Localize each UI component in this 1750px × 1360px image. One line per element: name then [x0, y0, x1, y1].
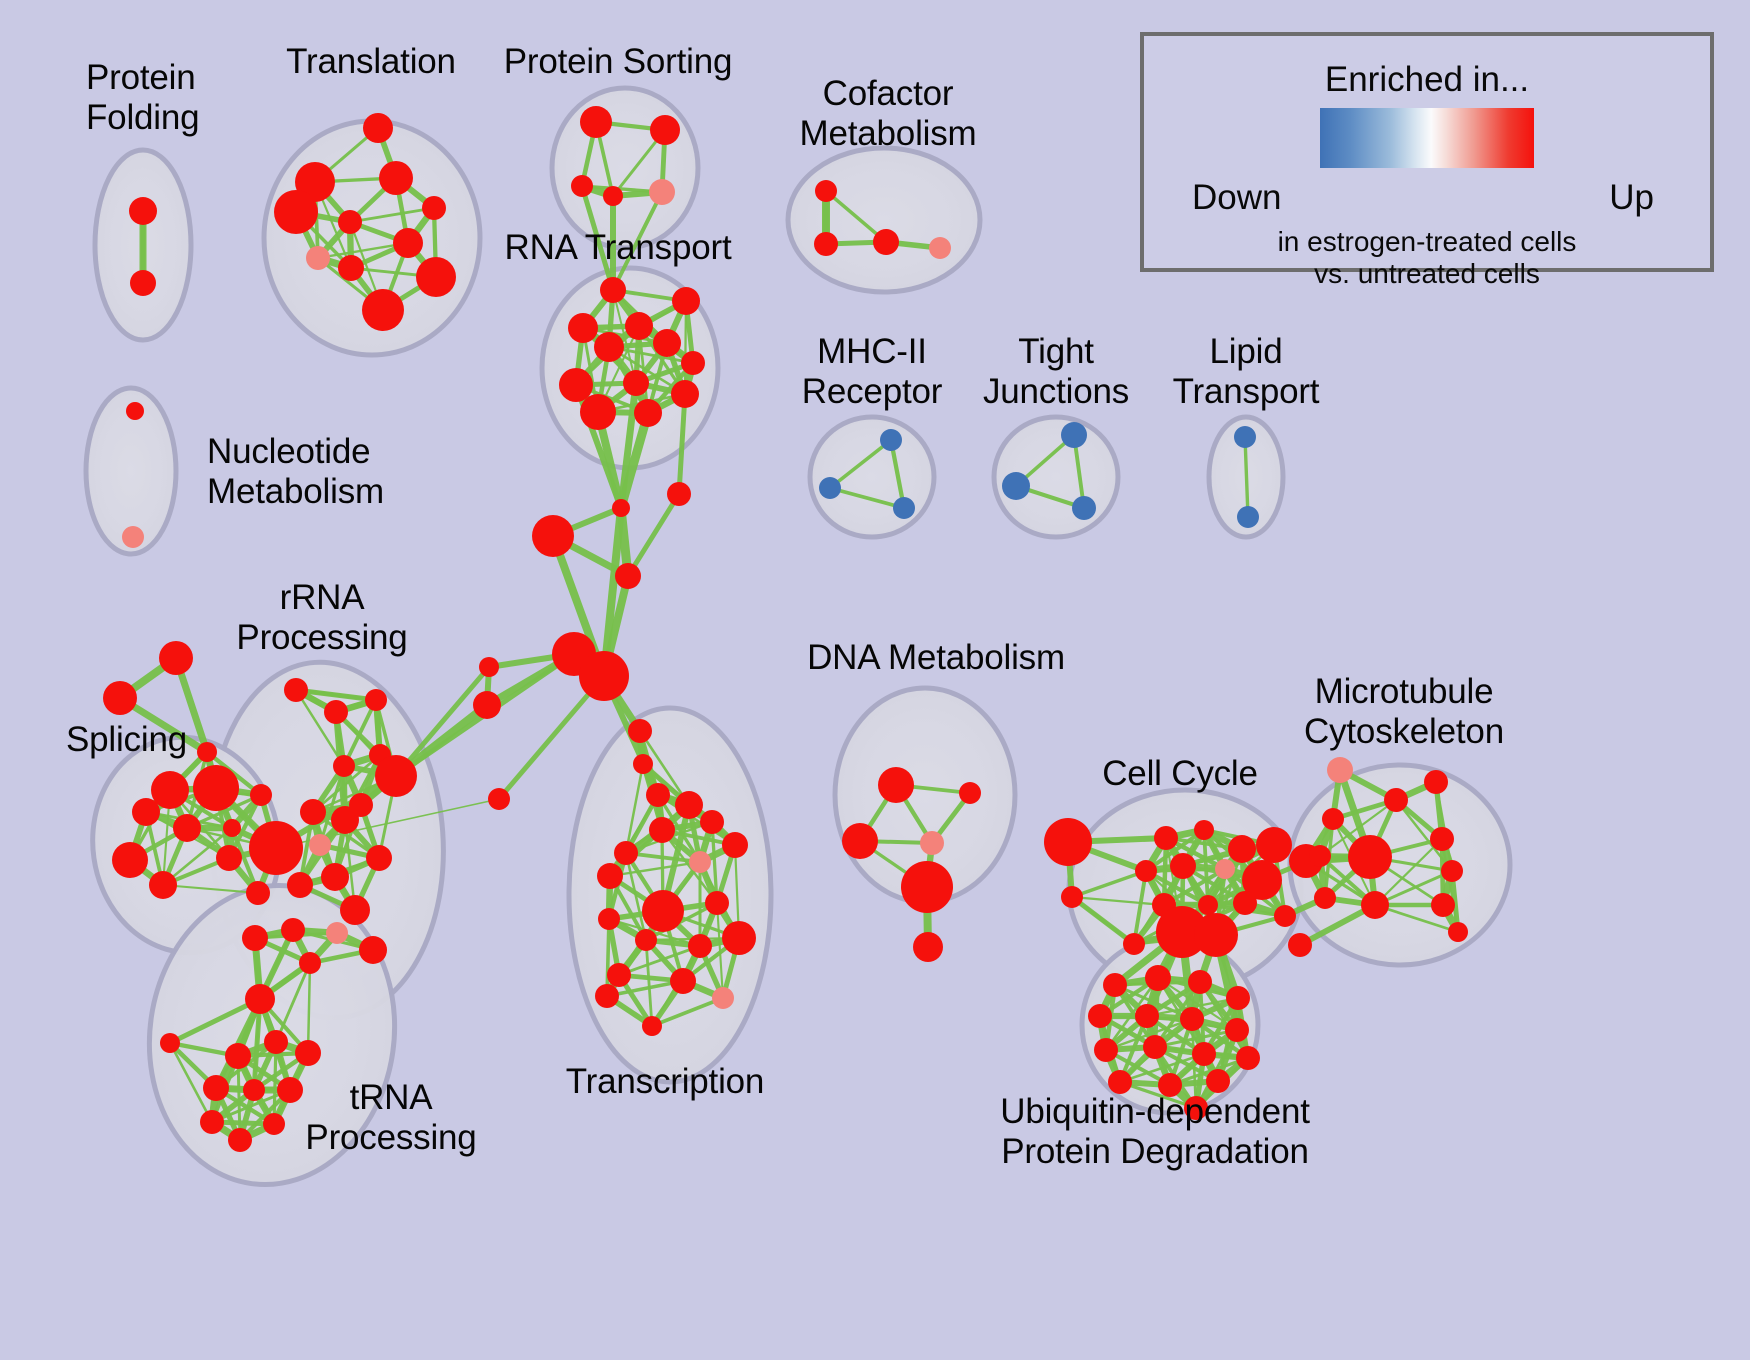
gene-set-node[interactable]	[1226, 986, 1250, 1010]
gene-set-node[interactable]	[633, 754, 653, 774]
gene-set-node[interactable]	[422, 196, 446, 220]
cluster-label-lipid-transport: Lipid Transport	[1173, 332, 1320, 411]
gene-set-node[interactable]	[1441, 860, 1463, 882]
gene-set-node[interactable]	[245, 984, 275, 1014]
gene-set-node[interactable]	[607, 963, 631, 987]
gene-set-node[interactable]	[103, 681, 137, 715]
gene-set-node[interactable]	[614, 841, 638, 865]
gene-set-node[interactable]	[1430, 827, 1454, 851]
gene-set-node[interactable]	[216, 845, 242, 871]
legend-up-label: Up	[1609, 178, 1654, 218]
gene-set-node[interactable]	[321, 863, 349, 891]
gene-set-node[interactable]	[228, 1128, 252, 1152]
legend-title: Enriched in...	[1144, 60, 1710, 100]
gene-set-node[interactable]	[488, 788, 510, 810]
gene-set-node[interactable]	[705, 891, 729, 915]
gene-set-node[interactable]	[901, 861, 953, 913]
gene-set-node[interactable]	[1061, 422, 1087, 448]
gene-set-node[interactable]	[1384, 788, 1408, 812]
gene-set-node[interactable]	[197, 742, 217, 762]
gene-set-node[interactable]	[1206, 1069, 1230, 1093]
gene-set-node[interactable]	[712, 987, 734, 1009]
gene-set-node[interactable]	[149, 871, 177, 899]
gene-set-node[interactable]	[363, 113, 393, 143]
gene-set-node[interactable]	[814, 232, 838, 256]
gene-set-node[interactable]	[595, 984, 619, 1008]
gene-set-node[interactable]	[597, 863, 623, 889]
cluster-label-mhc-ii-receptor: MHC-II Receptor	[802, 332, 942, 411]
cluster-label-tight-junctions: Tight Junctions	[983, 332, 1129, 411]
gene-set-node[interactable]	[689, 851, 711, 873]
gene-set-node[interactable]	[1180, 1007, 1204, 1031]
gene-set-node[interactable]	[1188, 970, 1212, 994]
gene-set-node[interactable]	[362, 289, 404, 331]
cluster-label-protein-sorting: Protein Sorting	[504, 42, 733, 82]
cluster-label-cofactor-metabolism: Cofactor Metabolism	[800, 74, 977, 153]
gene-set-node[interactable]	[333, 755, 355, 777]
gene-set-node[interactable]	[642, 890, 684, 932]
gene-set-node[interactable]	[1103, 973, 1127, 997]
gene-set-node[interactable]	[1094, 1038, 1118, 1062]
gene-set-node[interactable]	[479, 657, 499, 677]
gene-set-node[interactable]	[173, 814, 201, 842]
gene-set-node[interactable]	[670, 968, 696, 994]
gene-set-node[interactable]	[681, 351, 705, 375]
gene-set-node[interactable]	[603, 186, 623, 206]
gene-set-node[interactable]	[300, 799, 326, 825]
gene-set-node[interactable]	[623, 370, 649, 396]
cluster-label-cell-cycle: Cell Cycle	[1102, 754, 1258, 794]
gene-set-node[interactable]	[1145, 965, 1171, 991]
gene-set-node[interactable]	[225, 1043, 251, 1069]
cluster-label-microtubule-cytoskeleton: Microtubule Cytoskeleton	[1304, 672, 1504, 751]
edge	[628, 494, 679, 576]
cluster-label-rrna-processing: rRNA Processing	[236, 578, 407, 657]
gene-set-node[interactable]	[366, 845, 392, 871]
gene-set-node[interactable]	[615, 563, 641, 589]
gene-set-node[interactable]	[625, 312, 653, 340]
gene-set-node[interactable]	[1431, 893, 1455, 917]
gene-set-node[interactable]	[1088, 1004, 1112, 1028]
gene-set-node[interactable]	[880, 429, 902, 451]
gene-set-node[interactable]	[129, 197, 157, 225]
gene-set-node[interactable]	[642, 1016, 662, 1036]
legend-down-label: Down	[1192, 178, 1281, 218]
gene-set-node[interactable]	[1170, 853, 1196, 879]
gene-set-node[interactable]	[1002, 472, 1030, 500]
gene-set-node[interactable]	[913, 932, 943, 962]
gene-set-node[interactable]	[1194, 820, 1214, 840]
cluster-label-dna-metabolism: DNA Metabolism	[807, 638, 1065, 678]
gene-set-node[interactable]	[579, 651, 629, 701]
cluster-label-rna-transport: RNA Transport	[505, 228, 732, 268]
gene-set-node[interactable]	[1234, 426, 1256, 448]
gene-set-node[interactable]	[126, 402, 144, 420]
gene-set-node[interactable]	[473, 691, 501, 719]
gene-set-node[interactable]	[1044, 818, 1092, 866]
gene-set-node[interactable]	[667, 482, 691, 506]
gene-set-node[interactable]	[1108, 1070, 1132, 1094]
gene-set-node[interactable]	[878, 767, 914, 803]
gene-set-node[interactable]	[242, 925, 268, 951]
gene-set-node[interactable]	[112, 842, 148, 878]
legend-subtitle-line-2: vs. untreated cells	[1144, 258, 1710, 290]
gene-set-node[interactable]	[1061, 886, 1083, 908]
gene-set-node[interactable]	[1192, 1042, 1216, 1066]
gene-set-node[interactable]	[842, 823, 878, 859]
gene-set-node[interactable]	[249, 821, 303, 875]
gene-set-node[interactable]	[1424, 770, 1448, 794]
gene-set-node[interactable]	[671, 380, 699, 408]
gene-set-node[interactable]	[250, 784, 272, 806]
gene-set-node[interactable]	[1256, 827, 1292, 863]
gene-set-node[interactable]	[306, 246, 330, 270]
gene-set-node[interactable]	[379, 161, 413, 195]
gene-set-node[interactable]	[200, 1110, 224, 1134]
gene-set-node[interactable]	[338, 255, 364, 281]
gene-set-node[interactable]	[375, 755, 417, 797]
gene-set-node[interactable]	[873, 229, 899, 255]
gene-set-node[interactable]	[284, 678, 308, 702]
gene-set-node[interactable]	[893, 497, 915, 519]
gene-set-node[interactable]	[1274, 905, 1296, 927]
gene-set-node[interactable]	[159, 641, 193, 675]
cluster-hull-cofactor-metabolism	[788, 148, 980, 292]
gene-set-node[interactable]	[815, 180, 837, 202]
cluster-label-nucleotide-metabolism: Nucleotide Metabolism	[207, 432, 384, 511]
gene-set-node[interactable]	[920, 831, 944, 855]
gene-set-node[interactable]	[580, 106, 612, 138]
gene-set-node[interactable]	[635, 929, 657, 951]
gene-set-node[interactable]	[365, 689, 387, 711]
gene-set-node[interactable]	[324, 700, 348, 724]
gene-set-node[interactable]	[1448, 922, 1468, 942]
gene-set-node[interactable]	[203, 1075, 229, 1101]
cluster-hull-protein-sorting	[552, 88, 698, 248]
gene-set-node[interactable]	[649, 179, 675, 205]
gene-set-node[interactable]	[223, 819, 241, 837]
gene-set-node[interactable]	[340, 895, 370, 925]
gene-set-node[interactable]	[1361, 891, 1389, 919]
gene-set-node[interactable]	[1194, 913, 1238, 957]
gene-set-node[interactable]	[532, 515, 574, 557]
cluster-label-transcription: Transcription	[566, 1062, 764, 1102]
gene-set-node[interactable]	[1288, 933, 1312, 957]
gene-set-node[interactable]	[416, 257, 456, 297]
gene-set-node[interactable]	[650, 115, 680, 145]
gene-set-node[interactable]	[1322, 808, 1344, 830]
gene-set-node[interactable]	[193, 765, 239, 811]
cluster-label-translation: Translation	[286, 42, 456, 82]
gene-set-node[interactable]	[277, 1077, 303, 1103]
gene-set-node[interactable]	[1143, 1035, 1167, 1059]
gene-set-node[interactable]	[1233, 891, 1257, 915]
gene-set-node[interactable]	[653, 329, 681, 357]
gene-set-node[interactable]	[959, 782, 981, 804]
gene-set-node[interactable]	[274, 190, 318, 234]
gene-set-node[interactable]	[1228, 835, 1256, 863]
gene-set-node[interactable]	[1072, 496, 1096, 520]
gene-set-node[interactable]	[1309, 845, 1331, 867]
gene-set-node[interactable]	[1314, 887, 1336, 909]
gene-set-node[interactable]	[1198, 895, 1218, 915]
gene-set-node[interactable]	[672, 287, 700, 315]
gene-set-node[interactable]	[122, 526, 144, 548]
gene-set-node[interactable]	[309, 834, 331, 856]
gene-set-node[interactable]	[580, 394, 616, 430]
gene-set-node[interactable]	[568, 313, 598, 343]
gene-set-node[interactable]	[598, 908, 620, 930]
gene-set-node[interactable]	[1348, 835, 1392, 879]
gene-set-node[interactable]	[722, 832, 748, 858]
gene-set-node[interactable]	[1154, 826, 1178, 850]
gene-set-node[interactable]	[132, 798, 160, 826]
gene-set-node[interactable]	[326, 922, 348, 944]
cluster-label-splicing: Splicing	[66, 720, 187, 760]
gene-set-node[interactable]	[675, 791, 703, 819]
gene-set-node[interactable]	[243, 1079, 265, 1101]
gene-set-node[interactable]	[1225, 1018, 1249, 1042]
cluster-label-ubiquitin-protein-degradation: Ubiquitin-dependent Protein Degradation	[1000, 1092, 1310, 1171]
gene-set-node[interactable]	[649, 817, 675, 843]
gene-set-node[interactable]	[700, 810, 724, 834]
gene-set-node[interactable]	[160, 1033, 180, 1053]
gene-set-node[interactable]	[287, 872, 313, 898]
gene-set-node[interactable]	[628, 719, 652, 743]
legend-panel: Enriched in... Down Up in estrogen-treat…	[1140, 32, 1714, 272]
gene-set-node[interactable]	[1236, 1046, 1260, 1070]
gene-set-node[interactable]	[646, 783, 670, 807]
gene-set-node[interactable]	[600, 277, 626, 303]
gene-set-node[interactable]	[1327, 757, 1353, 783]
gene-set-node[interactable]	[263, 1113, 285, 1135]
gene-set-node[interactable]	[688, 934, 712, 958]
gene-set-node[interactable]	[634, 399, 662, 427]
gene-set-node[interactable]	[722, 921, 756, 955]
gene-set-node[interactable]	[1123, 933, 1145, 955]
gene-set-node[interactable]	[338, 210, 362, 234]
legend-subtitle-line-1: in estrogen-treated cells	[1144, 226, 1710, 258]
gene-set-node[interactable]	[1135, 860, 1157, 882]
gene-set-node[interactable]	[246, 881, 270, 905]
cluster-label-trna-processing: tRNA Processing	[305, 1078, 476, 1157]
gene-set-node[interactable]	[264, 1030, 288, 1054]
gene-set-node[interactable]	[594, 332, 624, 362]
cluster-hull-mhc-ii-receptor	[810, 417, 934, 537]
gene-set-node[interactable]	[559, 368, 593, 402]
gene-set-node[interactable]	[571, 175, 593, 197]
gene-set-node[interactable]	[1237, 506, 1259, 528]
gene-set-node[interactable]	[299, 952, 321, 974]
gene-set-node[interactable]	[1135, 1004, 1159, 1028]
gene-set-node[interactable]	[349, 793, 373, 817]
gene-set-node[interactable]	[130, 270, 156, 296]
enrichment-map-figure: Protein FoldingTranslationProtein Sortin…	[0, 0, 1750, 1360]
gene-set-node[interactable]	[281, 918, 305, 942]
legend-color-gradient-bar	[1320, 108, 1534, 168]
cluster-label-protein-folding: Protein Folding	[86, 58, 199, 137]
gene-set-node[interactable]	[1215, 859, 1235, 879]
gene-set-node[interactable]	[612, 499, 630, 517]
gene-set-node[interactable]	[393, 228, 423, 258]
gene-set-node[interactable]	[929, 237, 951, 259]
gene-set-node[interactable]	[295, 1040, 321, 1066]
gene-set-node[interactable]	[359, 936, 387, 964]
gene-set-node[interactable]	[819, 477, 841, 499]
